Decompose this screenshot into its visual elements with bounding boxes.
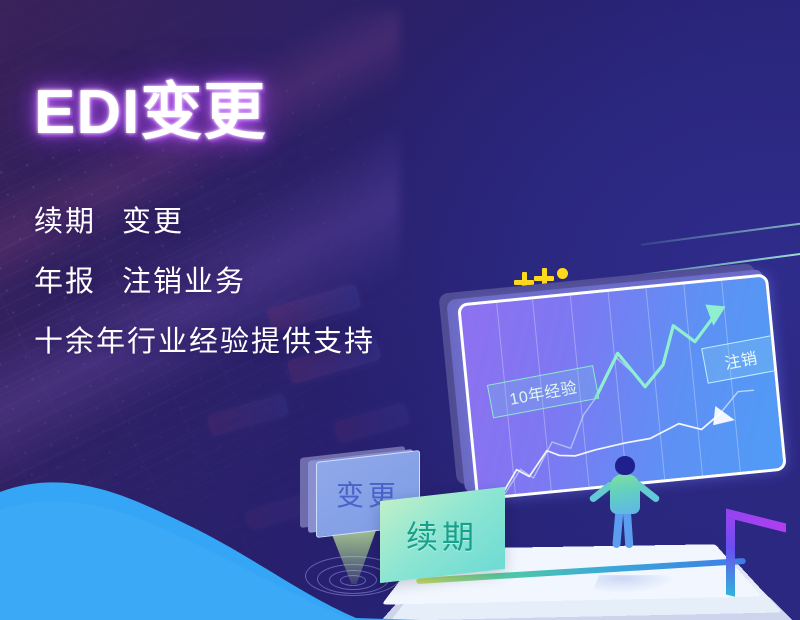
decorative-line-top-2 <box>641 220 800 245</box>
wave-shape-highlight <box>0 501 352 620</box>
chart-arrow-down <box>711 404 735 425</box>
person-body <box>610 474 640 514</box>
chart-series-up <box>589 316 721 398</box>
dot-marker-icon <box>557 268 568 279</box>
banner-root: EDI变更 续期变更 年报注销业务 十余年行业经验提供支持 <box>0 0 800 620</box>
person-shadow <box>593 575 678 592</box>
bottom-wave <box>0 440 420 620</box>
gradient-ramp <box>726 509 786 610</box>
person-head <box>615 456 635 475</box>
chart-series-down-tail <box>718 390 756 413</box>
